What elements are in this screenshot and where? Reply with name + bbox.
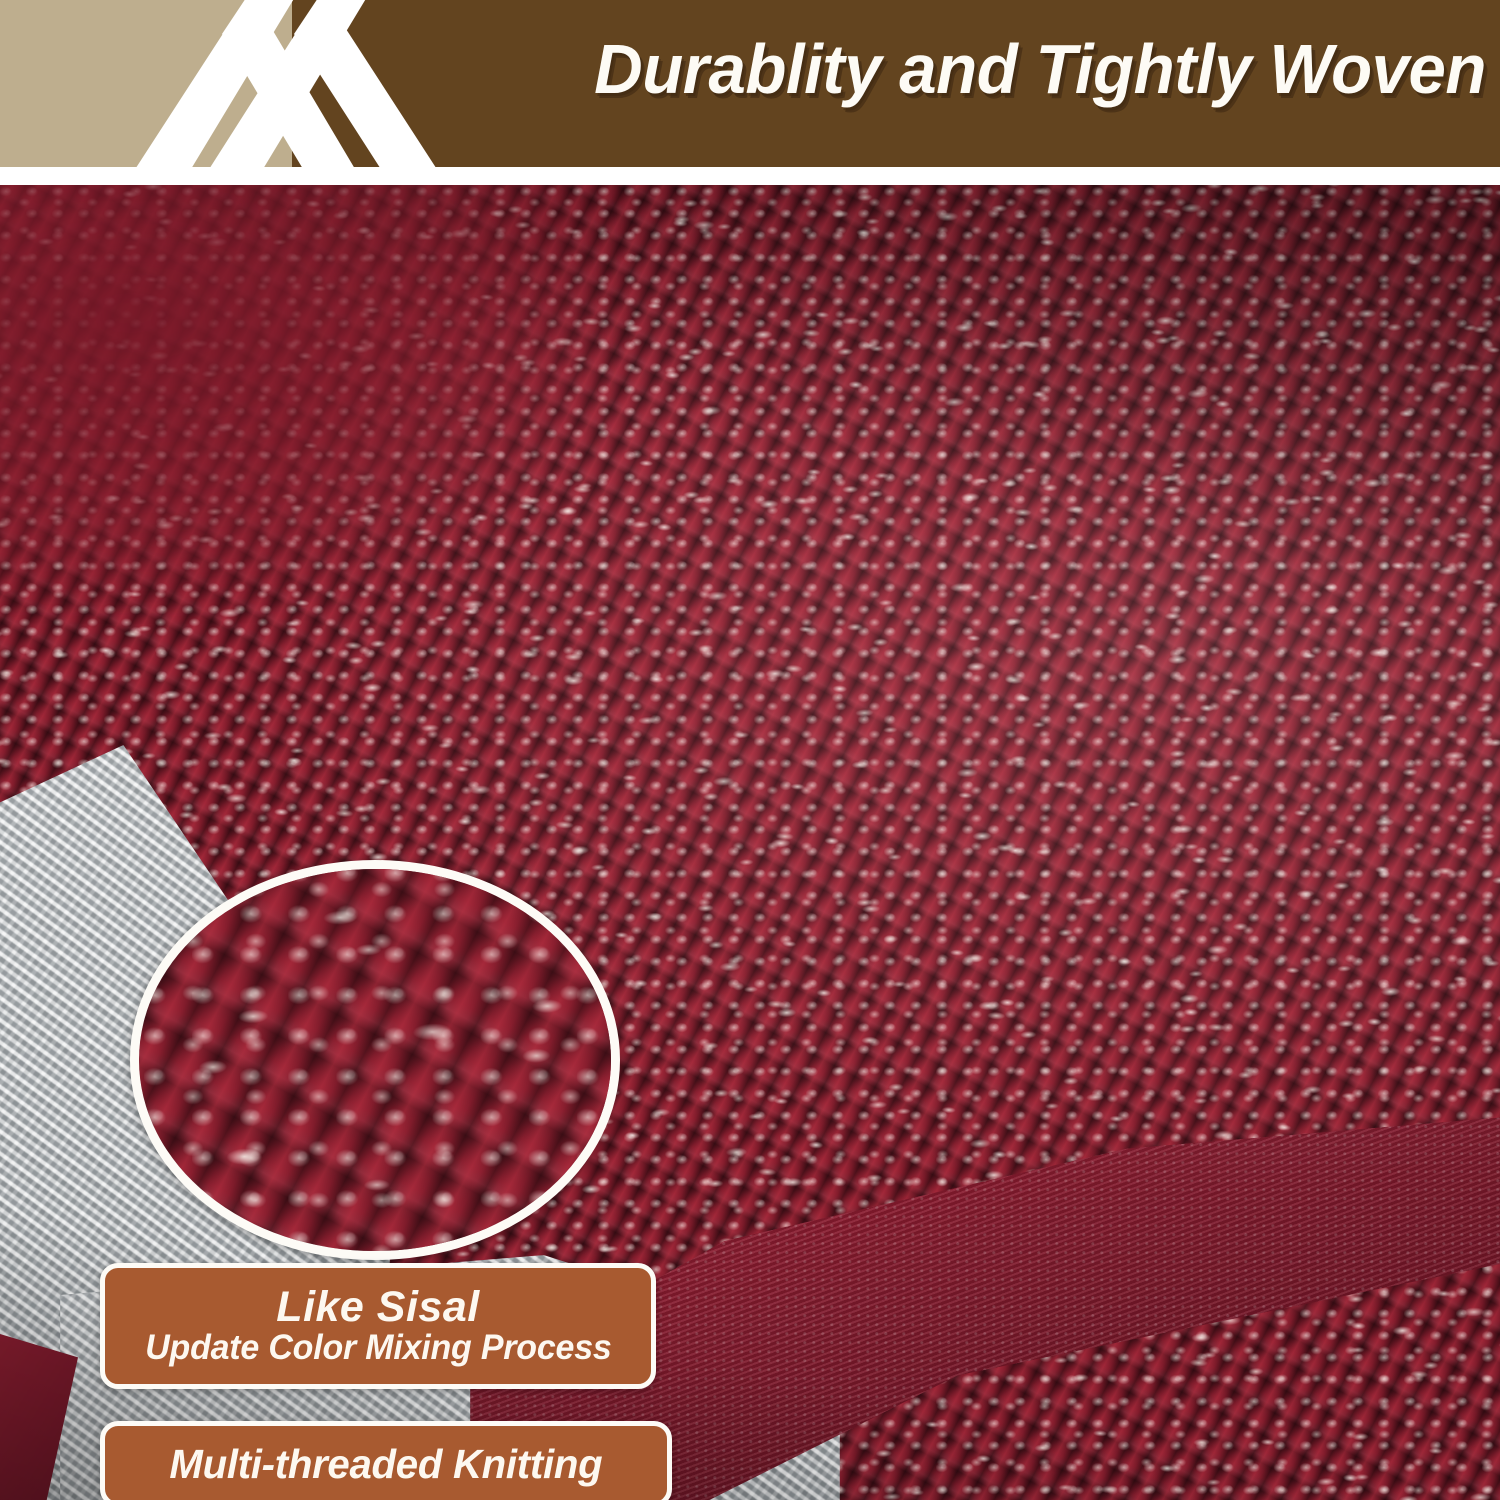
zoom-detail-content — [130, 860, 620, 1260]
feature-badge-like-sisal: Like Sisal Update Color Mixing Process — [100, 1263, 656, 1389]
header-divider — [0, 167, 1500, 185]
page-title: Durablity and Tightly Woven — [594, 34, 1486, 105]
carpet-photo: Like Sisal Update Color Mixing Process M… — [0, 185, 1500, 1500]
zoom-fleck-layer — [130, 860, 620, 1260]
feature-badge-title: Multi-threaded Knitting — [170, 1444, 603, 1485]
header-banner: Durablity and Tightly Woven — [0, 0, 1500, 167]
mountain-m-logo-icon — [110, 0, 460, 167]
feature-badge-title: Like Sisal — [276, 1286, 479, 1329]
feature-badge-subtitle: Update Color Mixing Process — [145, 1330, 611, 1367]
feature-badge-multi-threaded-knitting: Multi-threaded Knitting — [100, 1421, 672, 1500]
zoom-detail-circle — [130, 860, 620, 1260]
product-feature-image: Durablity and Tightly Woven Like Sisal U… — [0, 0, 1500, 1500]
